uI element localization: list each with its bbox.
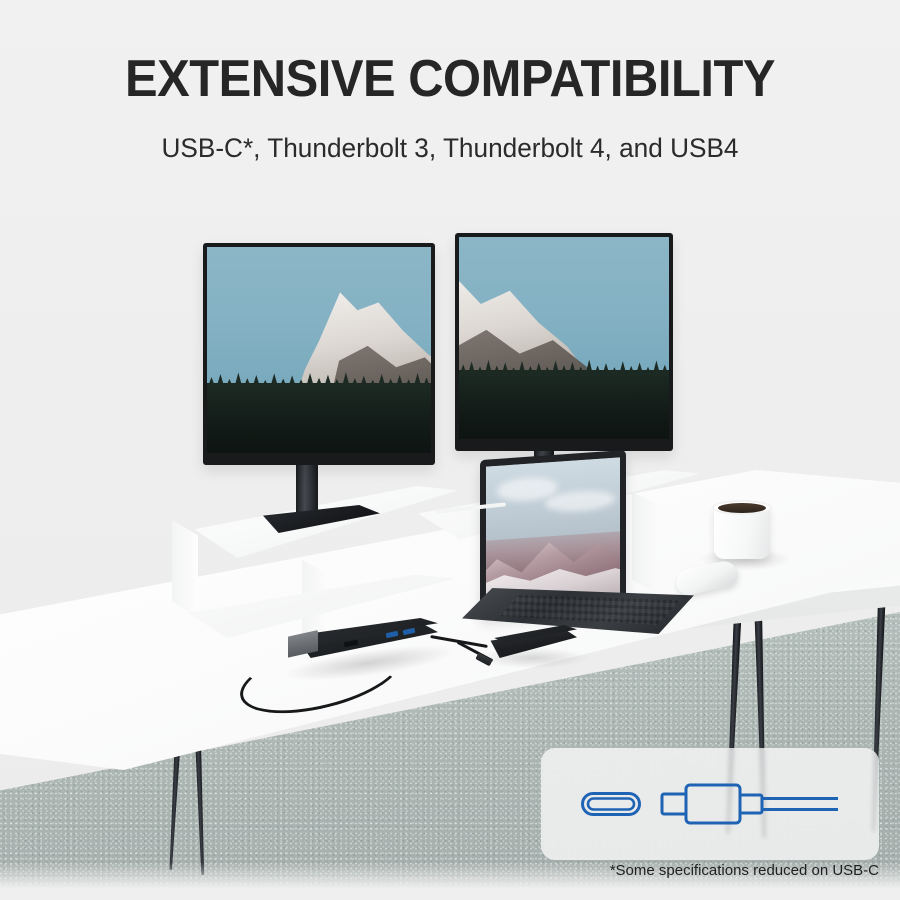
wallpaper-treeline: [459, 370, 669, 439]
usb-c-connector-icon: [660, 781, 840, 827]
monitor-right-screen: [459, 237, 669, 439]
laptop-screen: [486, 457, 620, 608]
drive-shadow: [478, 648, 588, 668]
wallpaper-treeline: [207, 383, 431, 453]
callout-footnote: *Some specifications reduced on USB-C: [541, 862, 883, 879]
monitor-left-screen: [207, 247, 431, 453]
product-marketing-image: EXTENSIVE COMPATIBILITY USB-C*, Thunderb…: [0, 0, 900, 900]
page-subtitle: USB-C*, Thunderbolt 3, Thunderbolt 4, an…: [14, 133, 887, 164]
mug-coffee: [718, 503, 766, 513]
usb-c-icon-group: [580, 781, 840, 827]
page-title: EXTENSIVE COMPATIBILITY: [27, 52, 873, 107]
usb-c-callout-box: [541, 748, 879, 860]
usb-c-port-icon: [580, 789, 642, 819]
external-monitor-left: [203, 243, 435, 465]
external-monitor-right: [455, 233, 673, 451]
